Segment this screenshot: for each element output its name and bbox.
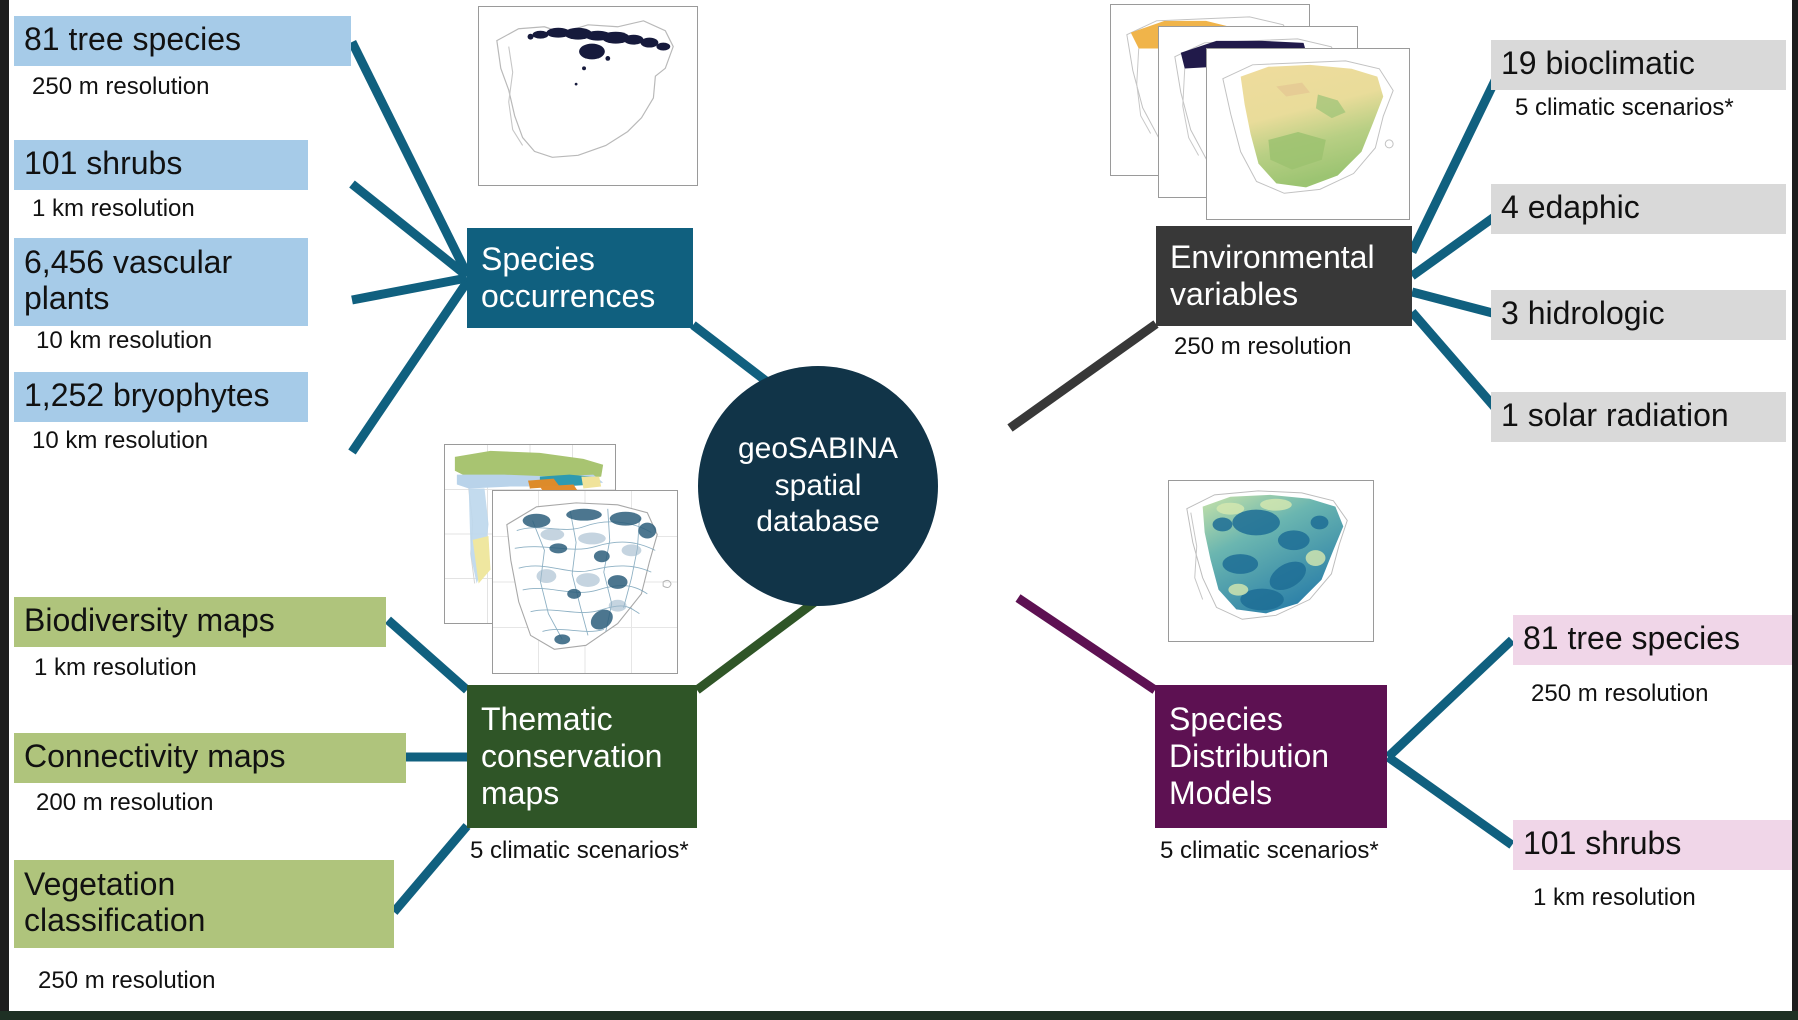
chip-1252-bryophytes[interactable]: 1,252 bryophytes [14, 372, 308, 422]
category-thematic-line2: conservation [481, 738, 662, 775]
link-shrubs-to-occurrences [352, 184, 467, 276]
chip-81-tree-species[interactable]: 81 tree species [14, 16, 351, 66]
note-19-bioclimatic: 5 climatic scenarios* [1515, 95, 1734, 121]
chip-1252-bryophytes-label: 1,252 bryophytes [24, 378, 270, 414]
category-species-occurrences-line2: occurrences [481, 278, 655, 315]
note-6456-vascular-plants: 10 km resolution [36, 328, 212, 354]
link-sdm-to-shrubs [1388, 757, 1512, 845]
link-hub-to-thematic [697, 598, 820, 690]
note-81-tree-species: 250 m resolution [32, 74, 209, 100]
species-distribution-model-thumbnail [1168, 480, 1374, 642]
note-biodiversity-maps: 1 km resolution [34, 655, 197, 681]
chip-sdm-81-tree-species[interactable]: 81 tree species [1513, 615, 1798, 665]
chip-4-edaphic[interactable]: 4 edaphic [1491, 184, 1786, 234]
canvas-left-edge [0, 0, 9, 1020]
chip-3-hidrologic-label: 3 hidrologic [1501, 296, 1665, 332]
canvas-bottom-edge [0, 1011, 1798, 1020]
chip-vascular-plants-line1: 6,456 vascular [24, 245, 232, 281]
chip-1-solar-radiation-label: 1 solar radiation [1501, 398, 1729, 434]
category-species-occurrences[interactable]: Species occurrences [467, 228, 693, 328]
chip-vegetation-classification[interactable]: Vegetation classification [14, 860, 394, 948]
category-thematic-conservation-maps[interactable]: Thematic conservation maps [467, 685, 697, 828]
hub-label-line1: geoSABINA [738, 431, 898, 468]
iberia-map-elevation-icon [1207, 49, 1409, 219]
link-vascular-to-occurrences [352, 278, 467, 300]
note-1252-bryophytes: 10 km resolution [32, 428, 208, 454]
chip-vegetation-line1: Vegetation [24, 867, 205, 903]
chip-19-bioclimatic[interactable]: 19 bioclimatic [1491, 40, 1786, 90]
thematic-conservation-maps-stack [444, 444, 704, 674]
chip-3-hidrologic[interactable]: 3 hidrologic [1491, 290, 1786, 340]
chip-connectivity-maps-label: Connectivity maps [24, 739, 285, 775]
chip-biodiversity-maps-label: Biodiversity maps [24, 603, 275, 639]
chip-81-tree-species-label: 81 tree species [24, 22, 241, 58]
canvas-right-edge [1792, 0, 1798, 1020]
note-sdm-101-shrubs: 1 km resolution [1533, 885, 1696, 911]
category-species-occurrences-line1: Species [481, 241, 655, 278]
link-tree-species-to-occurrences [352, 42, 467, 274]
link-environmental-to-hub [1010, 324, 1156, 428]
chip-vascular-plants-line2: plants [24, 281, 232, 317]
link-bryophytes-to-occurrences [352, 282, 467, 452]
hub-label-line3: database [738, 504, 898, 541]
chip-biodiversity-maps[interactable]: Biodiversity maps [14, 597, 386, 647]
category-sdm-line2: Distribution [1169, 738, 1329, 775]
note-sdm-81-tree-species: 250 m resolution [1531, 681, 1708, 707]
category-thematic-line3: maps [481, 775, 662, 812]
link-hub-to-sdm [1018, 598, 1155, 690]
category-sdm-note: 5 climatic scenarios* [1160, 838, 1379, 864]
chip-sdm-101-shrubs[interactable]: 101 shrubs [1513, 820, 1798, 870]
environmental-map-sheet-front [1206, 48, 1410, 220]
chip-6456-vascular-plants[interactable]: 6,456 vascular plants [14, 238, 308, 326]
category-environmental-variables-line2: variables [1170, 276, 1375, 313]
note-vegetation-classification: 250 m resolution [38, 968, 215, 994]
iberia-occurrence-map-icon [479, 7, 697, 185]
category-environmental-variables[interactable]: Environmental variables [1156, 226, 1412, 326]
category-thematic-line1: Thematic [481, 701, 662, 738]
species-occurrence-map-thumbnail [478, 6, 698, 186]
chip-4-edaphic-label: 4 edaphic [1501, 190, 1640, 226]
canvas-top-edge [0, 0, 1798, 3]
chip-sdm-101-shrubs-label: 101 shrubs [1523, 826, 1681, 862]
link-sdm-to-tree-species [1388, 640, 1512, 757]
hub-geosabina-spatial-database[interactable]: geoSABINA spatial database [698, 366, 938, 606]
chip-101-shrubs[interactable]: 101 shrubs [14, 140, 308, 190]
chip-vegetation-line2: classification [24, 903, 205, 939]
link-vegetation-to-thematic [394, 826, 467, 912]
category-sdm-line3: Models [1169, 775, 1329, 812]
hub-label-line2: spatial [738, 468, 898, 505]
chip-1-solar-radiation[interactable]: 1 solar radiation [1491, 392, 1786, 442]
category-thematic-note: 5 climatic scenarios* [470, 838, 689, 864]
category-sdm-line1: Species [1169, 701, 1329, 738]
diagram-canvas: geoSABINA spatial database Species occur… [0, 0, 1798, 1020]
category-environmental-variables-line1: Environmental [1170, 239, 1375, 276]
sdm-suitability-map-icon [1169, 481, 1373, 641]
note-101-shrubs: 1 km resolution [32, 196, 195, 222]
note-connectivity-maps: 200 m resolution [36, 790, 213, 816]
chip-sdm-81-tree-species-label: 81 tree species [1523, 621, 1740, 657]
connectivity-map-icon [493, 491, 677, 673]
environmental-variable-maps-stack [1110, 4, 1410, 220]
chip-19-bioclimatic-label: 19 bioclimatic [1501, 46, 1695, 82]
category-environmental-variables-note: 250 m resolution [1174, 334, 1351, 360]
chip-connectivity-maps[interactable]: Connectivity maps [14, 733, 406, 783]
chip-101-shrubs-label: 101 shrubs [24, 146, 182, 182]
category-species-distribution-models[interactable]: Species Distribution Models [1155, 685, 1387, 828]
thematic-map-sheet-front [492, 490, 678, 674]
